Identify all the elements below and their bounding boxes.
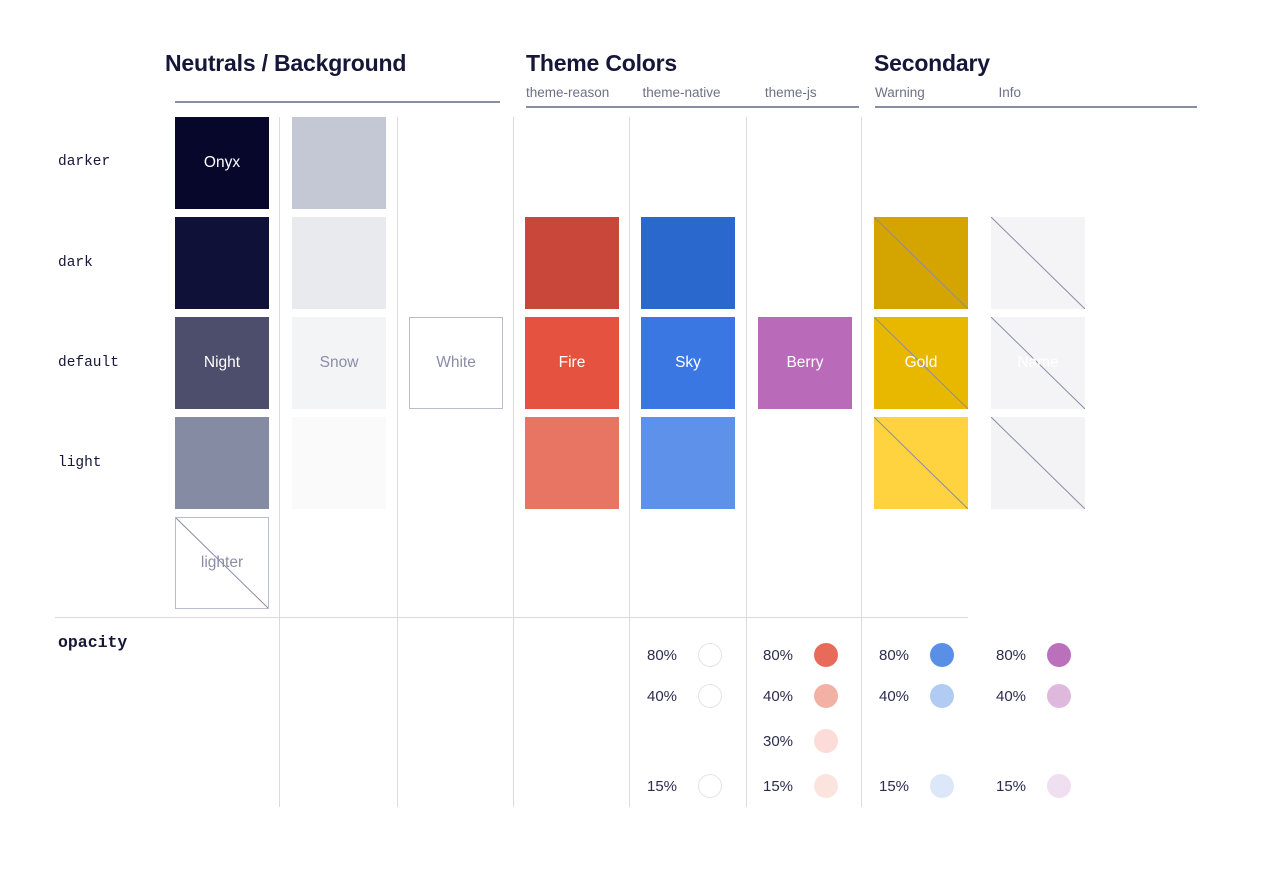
color-palette-sheet: Neutrals / Background Theme Colors theme… [0, 0, 1280, 872]
opacity-item-fire-40[interactable]: 40% [763, 684, 838, 708]
opacity-percent-label: 80% [879, 647, 919, 664]
swatch-berry-default[interactable]: Berry [758, 317, 852, 409]
row-label-opacity: opacity [58, 633, 127, 652]
swatch-snow-light[interactable] [292, 417, 386, 509]
opacity-percent-label: 15% [647, 778, 687, 795]
opacity-item-berry-80[interactable]: 80% [996, 643, 1071, 667]
opacity-dot-berry [1047, 774, 1071, 798]
grid-divider-6 [861, 117, 862, 807]
swatch-label-onyx-darker: Onyx [204, 154, 240, 172]
opacity-item-berry-40[interactable]: 40% [996, 684, 1071, 708]
opacity-percent-label: 30% [763, 733, 803, 750]
swatch-sky-default[interactable]: Sky [641, 317, 735, 409]
section-rule-neutrals [175, 101, 500, 103]
diagonal-strike-icon [991, 417, 1085, 509]
row-label-darker: darker [58, 154, 110, 170]
subheader-theme-js: theme-js [765, 85, 855, 100]
opacity-item-fire-15[interactable]: 15% [763, 774, 838, 798]
opacity-percent-label: 40% [647, 688, 687, 705]
grid-divider-1 [279, 117, 280, 807]
swatch-white-default[interactable]: White [409, 317, 503, 409]
swatch-sky-light[interactable] [641, 417, 735, 509]
swatch-fire-light[interactable] [525, 417, 619, 509]
grid-divider-2 [397, 117, 398, 807]
swatch-snow-darker[interactable] [292, 117, 386, 209]
diagonal-strike-icon [874, 217, 968, 309]
swatch-gold-light[interactable] [874, 417, 968, 509]
row-label-light: light [58, 455, 102, 471]
grid-divider-3 [513, 117, 514, 807]
opacity-percent-label: 80% [763, 647, 803, 664]
opacity-item-fire-80[interactable]: 80% [763, 643, 838, 667]
swatch-onyx-darker[interactable]: Onyx [175, 117, 269, 209]
swatch-gold-dark[interactable] [874, 217, 968, 309]
swatch-fire-dark[interactable] [525, 217, 619, 309]
row-label-dark: dark [58, 255, 93, 271]
swatch-info-dark[interactable] [991, 217, 1085, 309]
swatch-onyx-lighter[interactable]: lighter [175, 517, 269, 609]
opacity-dot-sky [930, 643, 954, 667]
opacity-percent-label: 40% [996, 688, 1036, 705]
swatch-gold-default[interactable]: Gold [874, 317, 968, 409]
opacity-percent-label: 40% [763, 688, 803, 705]
subheader-row-theme: theme-reason theme-native theme-js [526, 85, 855, 103]
opacity-dot-berry [1047, 684, 1071, 708]
subheader-row-secondary: Warning Info [875, 85, 1088, 103]
swatch-sky-dark[interactable] [641, 217, 735, 309]
diagonal-strike-icon [874, 417, 968, 509]
swatch-label-onyx-default: Night [204, 354, 240, 372]
swatch-label-sky-default: Sky [675, 354, 701, 372]
swatch-snow-dark[interactable] [292, 217, 386, 309]
opacity-percent-label: 80% [996, 647, 1036, 664]
section-title-neutrals: Neutrals / Background [165, 50, 406, 77]
swatch-label-gold-default: Gold [905, 354, 938, 372]
swatch-label-onyx-lighter: lighter [201, 554, 243, 572]
opacity-dot-white [698, 684, 722, 708]
opacity-percent-label: 15% [996, 778, 1036, 795]
swatch-snow-default[interactable]: Snow [292, 317, 386, 409]
swatch-onyx-light[interactable] [175, 417, 269, 509]
section-title-secondary: Secondary [874, 50, 990, 77]
swatch-label-info-default: Name [1017, 354, 1058, 372]
opacity-percent-label: 40% [879, 688, 919, 705]
grid-divider-5 [746, 117, 747, 807]
opacity-dot-fire [814, 729, 838, 753]
subheader-theme-native: theme-native [642, 85, 760, 100]
swatch-info-default[interactable]: Name [991, 317, 1085, 409]
opacity-item-white-80[interactable]: 80% [647, 643, 722, 667]
opacity-dot-white [698, 643, 722, 667]
swatch-info-light[interactable] [991, 417, 1085, 509]
swatch-label-snow-default: Snow [320, 354, 359, 372]
section-rule-theme [526, 106, 859, 108]
opacity-item-white-40[interactable]: 40% [647, 684, 722, 708]
opacity-dot-sky [930, 774, 954, 798]
grid-divider-4 [629, 117, 630, 807]
swatch-onyx-default[interactable]: Night [175, 317, 269, 409]
opacity-item-white-15[interactable]: 15% [647, 774, 722, 798]
opacity-item-sky-80[interactable]: 80% [879, 643, 954, 667]
opacity-item-fire-30[interactable]: 30% [763, 729, 838, 753]
diagonal-strike-icon [991, 217, 1085, 309]
swatch-label-white-default: White [436, 354, 476, 372]
subheader-warning: Warning [875, 85, 994, 100]
opacity-dot-sky [930, 684, 954, 708]
swatch-onyx-dark[interactable] [175, 217, 269, 309]
opacity-dot-berry [1047, 643, 1071, 667]
opacity-percent-label: 15% [763, 778, 803, 795]
swatch-fire-default[interactable]: Fire [525, 317, 619, 409]
subheader-theme-reason: theme-reason [526, 85, 638, 100]
opacity-dot-fire [814, 643, 838, 667]
section-title-theme: Theme Colors [526, 50, 677, 77]
opacity-percent-label: 15% [879, 778, 919, 795]
opacity-item-sky-40[interactable]: 40% [879, 684, 954, 708]
opacity-percent-label: 80% [647, 647, 687, 664]
opacity-dot-fire [814, 684, 838, 708]
opacity-dot-fire [814, 774, 838, 798]
subheader-info: Info [998, 85, 1088, 100]
row-label-default: default [58, 355, 119, 371]
swatch-label-berry-default: Berry [786, 354, 823, 372]
opacity-item-sky-15[interactable]: 15% [879, 774, 954, 798]
opacity-dot-white [698, 774, 722, 798]
section-rule-secondary [875, 106, 1197, 108]
opacity-item-berry-15[interactable]: 15% [996, 774, 1071, 798]
opacity-section-rule [55, 617, 968, 618]
swatch-label-fire-default: Fire [559, 354, 586, 372]
